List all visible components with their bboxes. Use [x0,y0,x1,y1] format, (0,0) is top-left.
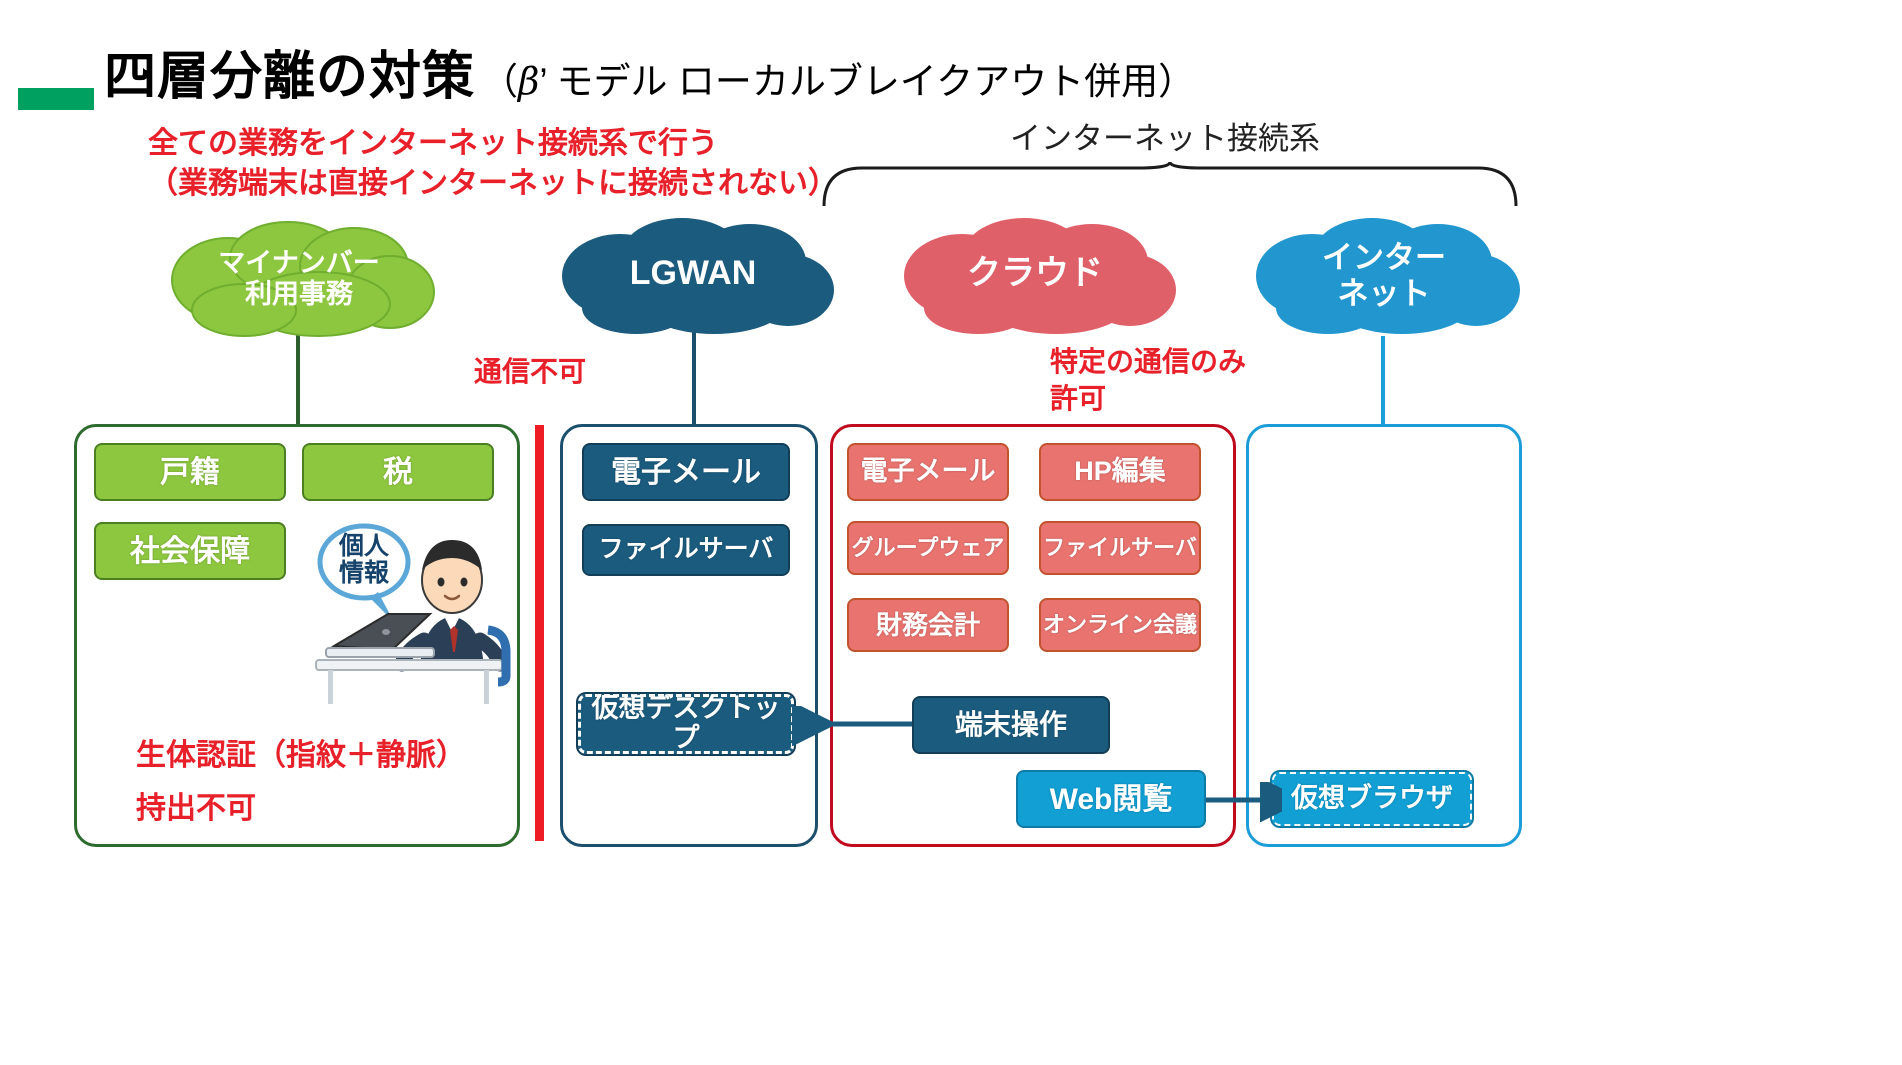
arrow-web-to-virtual-browser [1204,782,1282,822]
note-no-communication: 通信不可 [474,350,586,390]
chip-cloud-groupware[interactable]: グループウェア [847,521,1009,575]
note-allow-line1: 特定の通信のみ [1050,344,1246,381]
note-left-line1: 全ての業務をインターネット接続系で行う [148,124,838,164]
title-accent-bar [18,88,94,110]
bubble-line2: 情報 [339,559,389,587]
cloud-label-line2: ネット [1338,276,1431,311]
chip-shakaihosho[interactable]: 社会保障 [94,522,286,580]
note-biometric-auth: 生体認証（指紋＋静脈） [136,730,466,774]
connector-internet [1381,336,1385,426]
cloud-cloudservice-label: クラウド [890,254,1180,293]
chip-cloud-online-meeting[interactable]: オンライン会議 [1039,598,1201,652]
chip-cloud-accounting[interactable]: 財務会計 [847,598,1009,652]
title-sub-text: （β’ モデル ローカルブレイクアウト併用） [481,51,1195,105]
chip-cloud-hp-edit[interactable]: HP編集 [1039,443,1201,501]
chip-zei[interactable]: 税 [302,443,494,501]
cloud-lgwan-label: LGWAN [548,254,838,293]
chip-web-browsing[interactable]: Web閲覧 [1016,770,1206,828]
chip-cloud-fileserver[interactable]: ファイルサーバ [1039,521,1201,575]
bubble-line1: 個人 [339,532,389,560]
cloud-mynumber-label: マイナンバー 利用事務 [158,248,440,310]
note-allow-line2: 許可 [1050,381,1246,418]
beta-symbol: β [518,60,539,103]
note-no-takeout: 持出不可 [136,783,256,827]
chip-virtual-desktop[interactable]: 仮想デスクトップ [578,694,794,754]
arrow-terminal-to-virtual-desktop [790,706,920,746]
chip-koseki[interactable]: 戸籍 [94,443,286,501]
cloud-label-line1: マイナンバー [218,248,379,278]
chip-terminal-operation[interactable]: 端末操作 [912,696,1110,754]
communication-block-bar [535,425,544,841]
cloud-label-line1: インター [1322,240,1446,275]
cloud-label-line2: 利用事務 [245,279,353,309]
cloud-internet: インター ネット [1244,214,1524,336]
title-main-text: 四層分離の対策 [104,34,475,109]
slide-canvas: 四層分離の対策 （β’ モデル ローカルブレイクアウト併用） 全ての業務をインタ… [0,0,1902,1065]
chip-lgwan-fileserver[interactable]: ファイルサーバ [582,524,790,576]
cloud-lgwan: LGWAN [548,216,838,336]
cloud-internet-label: インター ネット [1244,240,1524,311]
chip-cloud-email[interactable]: 電子メール [847,443,1009,501]
chip-virtual-browser[interactable]: 仮想ブラウザ [1272,772,1472,826]
cloud-cloudservice: クラウド [890,214,1180,336]
chip-lgwan-email[interactable]: 電子メール [582,443,790,501]
note-limited-communication: 特定の通信のみ 許可 [1050,344,1246,418]
title-sub-rest: ’ モデル ローカルブレイクアウト併用） [539,61,1195,102]
slide-title: 四層分離の対策 （β’ モデル ローカルブレイクアウト併用） [104,34,1195,109]
cloud-mynumber: マイナンバー 利用事務 [158,218,440,338]
note-left-line2: （業務端末は直接インターネットに接続されない） [148,164,838,204]
note-all-work-on-internet: 全ての業務をインターネット接続系で行う （業務端末は直接インターネットに接続され… [148,124,838,204]
title-paren-open: （ [481,61,518,102]
speech-bubble-personal-info: 個人 情報 [322,533,406,587]
internet-system-bracket-icon [820,160,1520,210]
internet-system-label: インターネット接続系 [1010,113,1320,158]
